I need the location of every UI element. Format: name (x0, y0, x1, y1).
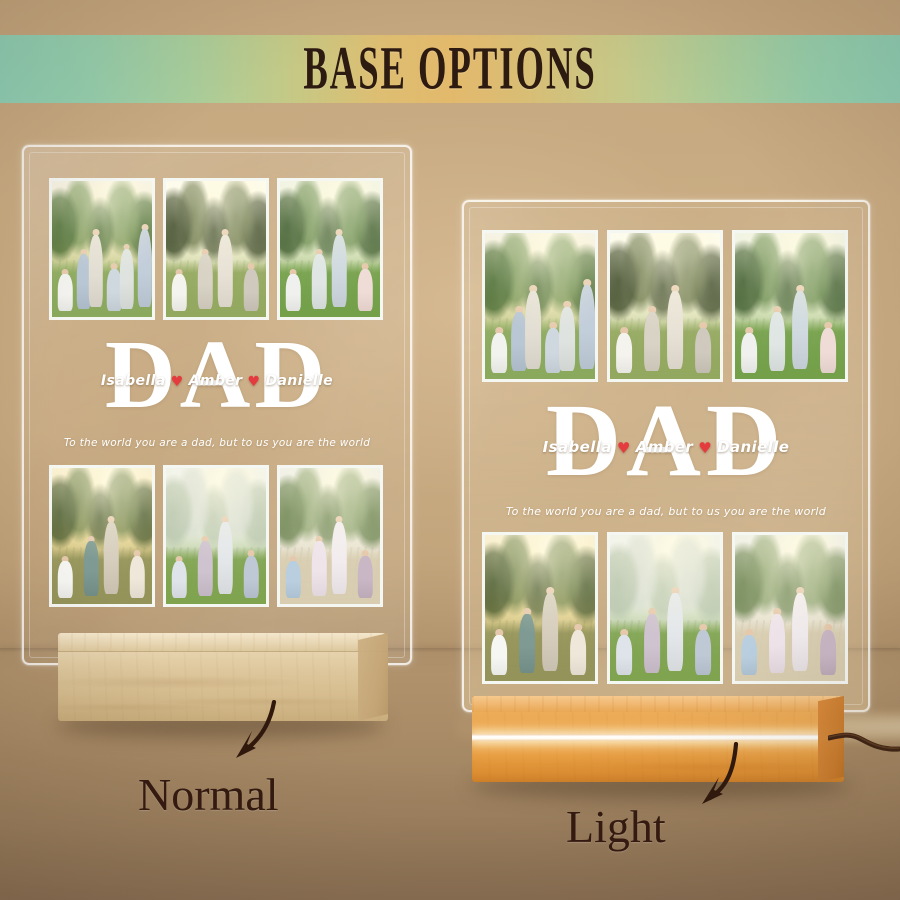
scene-vignette (0, 0, 900, 900)
product-option-graphic: BASE OPTIONS DAD Isabella♥Amber♥Danielle… (0, 0, 900, 900)
